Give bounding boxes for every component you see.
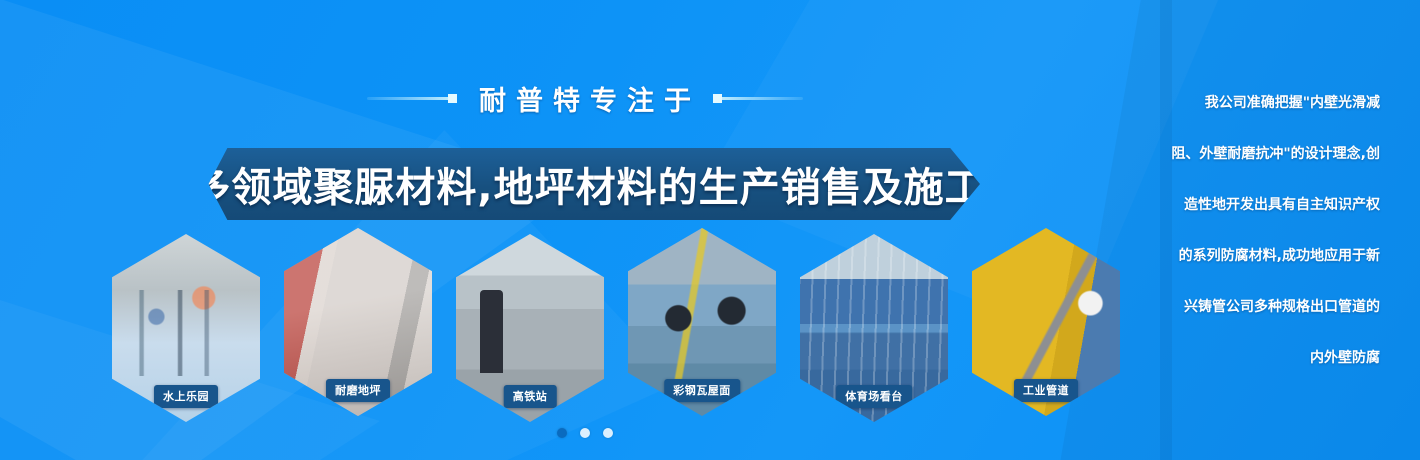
rule-end-dot-icon (448, 94, 457, 103)
headline-text: 多领域聚脲材料,地坪材料的生产销售及施工 (190, 155, 985, 213)
description-line: 的系列防腐材料,成功地应用于新 (1156, 231, 1380, 282)
thumbnail-item-high-speed-rail-station[interactable]: 高铁站 (456, 234, 604, 422)
thumbnail-item-wear-resistant-floor[interactable]: 耐磨地坪 (284, 228, 432, 416)
description-line: 我公司准确把握"内壁光滑减 (1156, 78, 1380, 129)
description-line: 造性地开发出具有自主知识产权 (1156, 180, 1380, 231)
thumbnail-caption: 工业管道 (1014, 379, 1078, 402)
thumbnail-row: 水上乐园 耐磨地坪 高铁站 彩钢瓦屋面 体育场看台 工业管道 (112, 228, 1142, 428)
hero-banner: 耐普特专注于 多领域聚脲材料,地坪材料的生产销售及施工 水上乐园 耐磨地坪 高铁… (0, 0, 1420, 460)
thumbnail-caption: 彩钢瓦屋面 (664, 379, 740, 402)
thumbnail-caption: 体育场看台 (836, 385, 912, 408)
company-description: 我公司准确把握"内壁光滑减 阻、外壁耐磨抗冲"的设计理念,创 造性地开发出具有自… (1156, 78, 1380, 384)
kicker-text: 耐普特专注于 (469, 79, 701, 118)
thumbnail-caption: 高铁站 (504, 385, 557, 408)
rule-end-dot-icon (713, 94, 722, 103)
thumbnail-item-color-steel-tile-roof[interactable]: 彩钢瓦屋面 (628, 228, 776, 416)
description-line: 阻、外壁耐磨抗冲"的设计理念,创 (1156, 129, 1380, 180)
carousel-dot-3[interactable] (603, 428, 613, 438)
carousel-dot-1[interactable] (557, 428, 567, 438)
carousel-dot-2[interactable] (580, 428, 590, 438)
carousel-dots (0, 428, 1420, 438)
thumbnail-item-stadium-grandstand[interactable]: 体育场看台 (800, 234, 948, 422)
thumbnail-caption: 耐磨地坪 (326, 379, 390, 402)
headline-banner: 多领域聚脲材料,地坪材料的生产销售及施工 (196, 148, 980, 220)
horizontal-rule-left-icon (367, 97, 455, 100)
thumbnail-item-waterpark[interactable]: 水上乐园 (112, 234, 260, 422)
description-line: 兴铸管公司多种规格出口管道的 (1156, 282, 1380, 333)
thumbnail-caption: 水上乐园 (154, 385, 218, 408)
thumbnail-item-industrial-pipeline[interactable]: 工业管道 (972, 228, 1120, 416)
horizontal-rule-right-icon (715, 97, 803, 100)
description-line: 内外壁防腐 (1156, 333, 1380, 384)
